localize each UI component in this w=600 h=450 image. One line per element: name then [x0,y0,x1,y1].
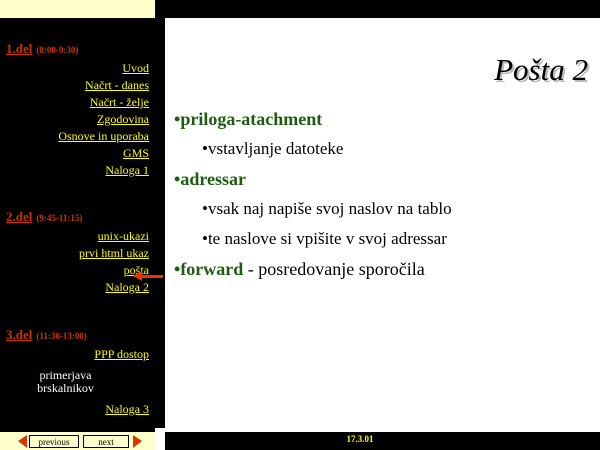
sidebar-item-posta[interactable]: pošta [0,262,149,279]
sidebar-section-2: 2.del(9:45-11:15) unix-ukazi prvi html u… [0,210,157,296]
bullet-vstavljanje-datoteke: •vstavljanje datoteke [174,134,594,164]
sidebar-section-1-header: 1.del(8:00-9:30) [0,42,157,57]
sidebar-item-nacrt-zelje[interactable]: Načrt - želje [0,94,149,111]
sidebar-item-gms[interactable]: GMS [0,145,149,162]
bullet-text: adressar [180,169,246,189]
sidebar-item-ppp-dostop[interactable]: PPP dostop [0,346,149,363]
bullet-text: forward [180,259,243,279]
sidebar-section-2-links: unix-ukazi prvi html ukaz pošta Naloga 2 [0,228,157,296]
bullet-text: te naslove si vpišite v svoj adressar [208,229,447,248]
sidebar-item-zgodovina[interactable]: Zgodovina [0,111,149,128]
sidebar-text-brskalnikov: brskalnikov [0,382,149,395]
sidebar-section-2-header: 2.del(9:45-11:15) [0,210,157,225]
bullet-te-naslove-si-vpisite: •te naslove si vpišite v svoj adressar [174,224,594,254]
arrow-shaft [141,275,163,278]
sidebar-item-naloga-1[interactable]: Naloga 1 [0,162,149,179]
sidebar-section-1: 1.del(8:00-9:30) Uvod Načrt - danes Načr… [0,42,157,179]
top-bar-accent [0,0,155,18]
sidebar-item-naloga-3[interactable]: Naloga 3 [0,401,149,418]
bullet-adressar: •adressar [174,164,594,194]
bullet-forward: •forward - posredovanje sporočila [174,254,594,284]
bullet-text: vstavljanje datoteke [208,139,343,158]
triangle-left-icon[interactable] [18,435,27,448]
sidebar-item-uvod[interactable]: Uvod [0,60,149,77]
sidebar-section-3-label: 3.del [6,327,32,342]
footer-date: 17.3.01 [300,433,420,446]
bullet-text: priloga-atachment [180,109,322,129]
sidebar-section-3-header: 3.del(11:30-13:00) [0,328,157,343]
sidebar-section-2-time: (9:45-11:15) [36,213,82,223]
sidebar-item-naloga-2[interactable]: Naloga 2 [0,279,149,296]
previous-button[interactable]: previous [29,435,79,448]
bullet-tail: - posredovanje sporočila [243,259,424,279]
sidebar-section-3-time: (11:30-13:00) [36,331,87,341]
footer-white-gap [155,428,600,432]
bullet-priloga-atachment: •priloga-atachment [174,104,594,134]
sidebar-item-osnove-in-uporaba[interactable]: Osnove in uporaba [0,128,149,145]
sidebar-section-3: 3.del(11:30-13:00) PPP dostop primerjava… [0,328,157,418]
sidebar-section-1-links: Uvod Načrt - danes Načrt - želje Zgodovi… [0,60,157,179]
bullet-vsak-naj-napise: •vsak naj napiše svoj naslov na tablo [174,194,594,224]
sidebar-item-unix-ukazi[interactable]: unix-ukazi [0,228,149,245]
sidebar-section-3-links: PPP dostop primerjava brskalnikov Naloga… [0,346,157,418]
sidebar: 1.del(8:00-9:30) Uvod Načrt - danes Načr… [0,18,165,428]
top-bar-black [155,0,600,18]
sidebar-item-prvi-html-ukaz[interactable]: prvi html ukaz [0,245,149,262]
page-title: Pošta 2 [494,52,588,88]
sidebar-section-1-time: (8:00-9:30) [36,45,78,55]
footer-corner-gap [156,432,165,450]
sidebar-item-nacrt-danes[interactable]: Načrt - danes [0,77,149,94]
main-content: Pošta 2 •priloga-atachment •vstavljanje … [165,18,600,428]
triangle-right-icon[interactable] [133,435,142,448]
sidebar-section-1-label: 1.del [6,41,32,56]
left-arrow-icon [133,271,163,281]
slide-page: 1.del(8:00-9:30) Uvod Načrt - danes Načr… [0,0,600,450]
next-button[interactable]: next [83,435,129,448]
bullet-text: vsak naj napiše svoj naslov na tablo [208,199,452,218]
bullet-list: •priloga-atachment •vstavljanje datoteke… [174,104,594,284]
sidebar-section-2-label: 2.del [6,209,32,224]
